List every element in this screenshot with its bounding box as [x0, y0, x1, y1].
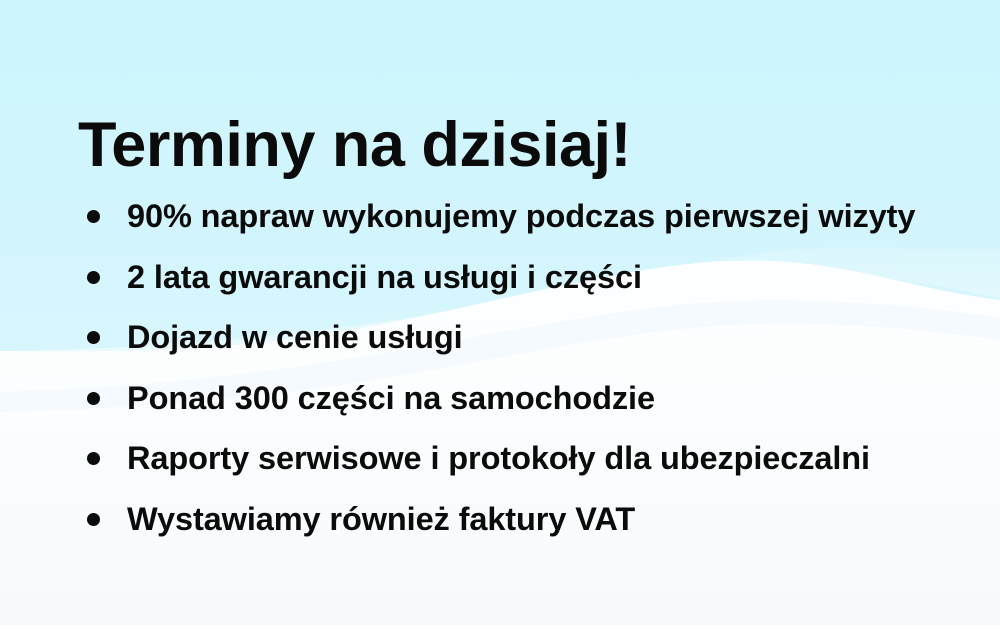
bullet-dot-icon [87, 210, 100, 223]
list-item: 90% napraw wykonujemy podczas pierwszej … [78, 186, 978, 247]
bullet-dot-icon [87, 452, 100, 465]
slide-canvas: Terminy na dzisiaj! 90% napraw wykonujem… [0, 0, 1000, 625]
list-item-label: Ponad 300 części na samochodzie [127, 382, 655, 415]
bullet-dot-icon [87, 513, 100, 526]
bullet-dot-icon [87, 331, 100, 344]
list-item-label: Dojazd w cenie usługi [127, 321, 463, 354]
bullet-dot-icon [87, 271, 100, 284]
slide-content: Terminy na dzisiaj! 90% napraw wykonujem… [0, 0, 1000, 625]
list-item-label: Wystawiamy również faktury VAT [127, 503, 635, 536]
list-item-label: 2 lata gwarancji na usługi i części [127, 261, 642, 294]
list-item: Wystawiamy również faktury VAT [78, 489, 978, 550]
list-item: Raporty serwisowe i protokoły dla ubezpi… [78, 428, 978, 489]
bullet-list: 90% napraw wykonujemy podczas pierwszej … [78, 186, 978, 549]
bullet-dot-icon [87, 392, 100, 405]
list-item-label: Raporty serwisowe i protokoły dla ubezpi… [127, 442, 870, 475]
page-title: Terminy na dzisiaj! [78, 112, 631, 178]
list-item: Dojazd w cenie usługi [78, 307, 978, 368]
list-item: Ponad 300 części na samochodzie [78, 368, 978, 429]
list-item: 2 lata gwarancji na usługi i części [78, 247, 978, 308]
list-item-label: 90% napraw wykonujemy podczas pierwszej … [127, 200, 915, 233]
